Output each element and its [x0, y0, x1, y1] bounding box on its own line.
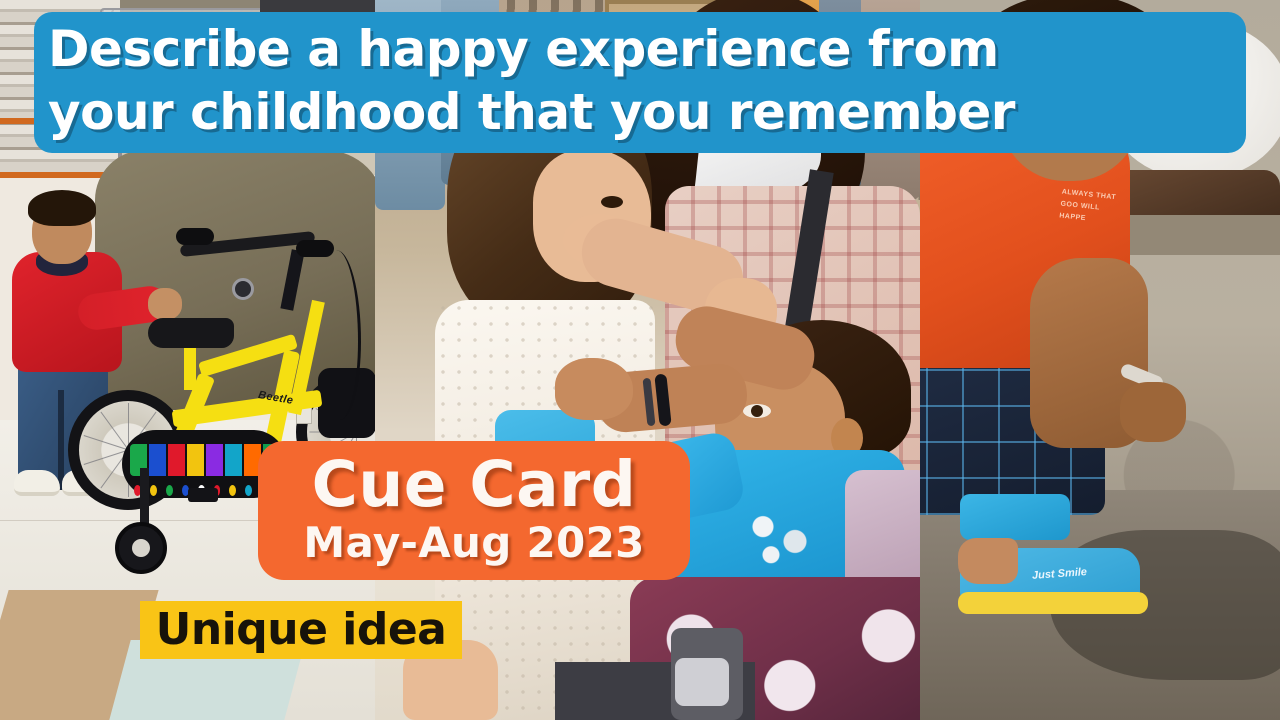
training-wheel-hub: [132, 539, 150, 557]
bicycle-bell: [232, 278, 254, 300]
title-banner: Describe a happy experience from your ch…: [34, 12, 1246, 153]
girl-eye: [601, 196, 623, 208]
tshirt-print: ALWAYS THAT GOO WILL HAPPE: [1058, 187, 1130, 236]
title-line-2: your childhood that you remember: [48, 81, 1232, 144]
youtube-thumbnail: Beetle: [0, 0, 1280, 720]
baby-eye: [743, 404, 771, 418]
handlebar-grip: [176, 228, 214, 245]
unique-idea-badge: Unique idea: [140, 601, 462, 659]
bicycle-pedal: [188, 488, 218, 502]
boy-hand: [1120, 382, 1186, 442]
training-wheel-arm: [140, 468, 149, 530]
bicycle-seatpost: [184, 342, 196, 390]
cue-card-date-range: May-Aug 2023: [303, 519, 644, 567]
child-shoe: [14, 470, 60, 496]
child-leg-gap: [58, 390, 64, 490]
cue-card-title: Cue Card: [312, 451, 637, 519]
boy-foot: [958, 538, 1018, 584]
child-hair: [28, 190, 96, 226]
sandal-sole: [958, 592, 1148, 614]
child-hand: [148, 288, 182, 320]
unique-idea-label: Unique idea: [156, 606, 447, 654]
woman-hand: [555, 358, 633, 420]
bicycle-seat: [148, 318, 234, 348]
carrier-buckle: [675, 658, 729, 706]
boy-sock: [960, 494, 1070, 540]
title-line-1: Describe a happy experience from: [48, 18, 1232, 81]
cue-card-badge: Cue Card May-Aug 2023: [258, 441, 690, 580]
baby-top-print: [727, 500, 827, 574]
